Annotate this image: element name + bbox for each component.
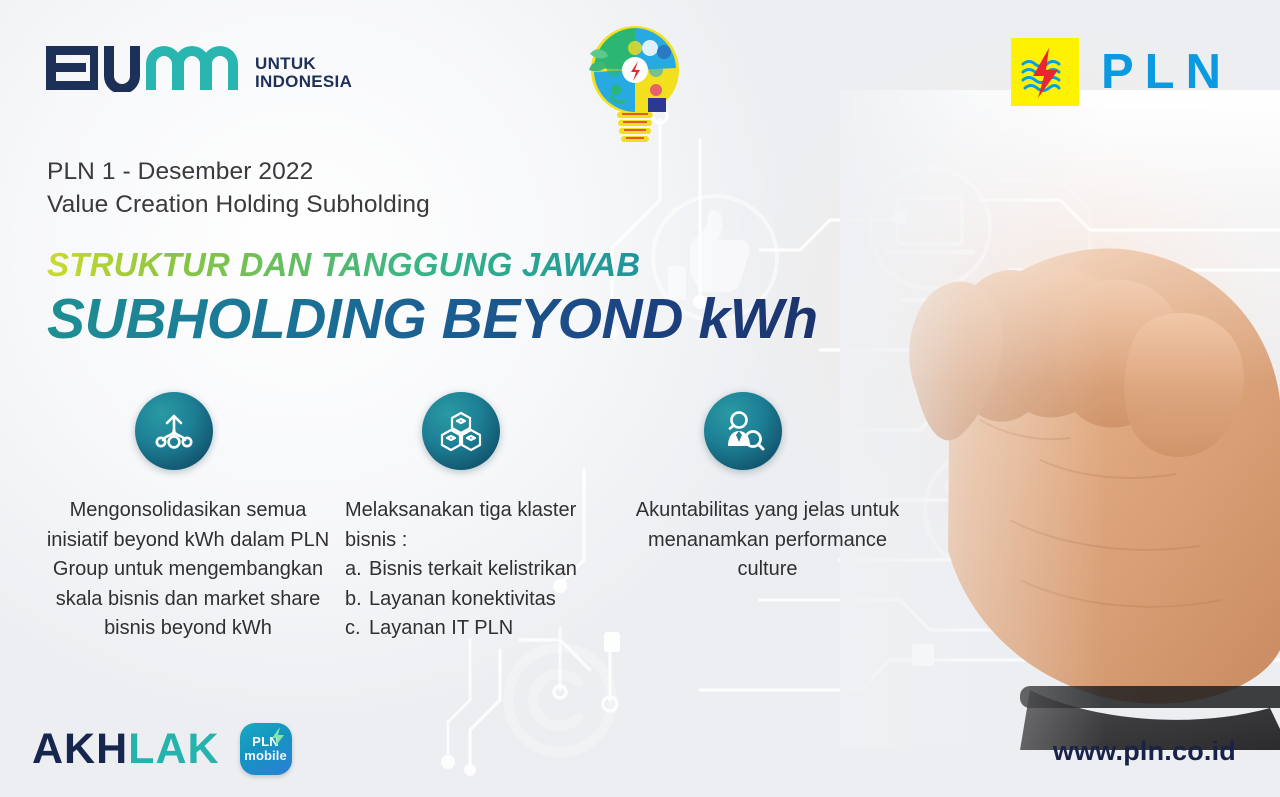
hand-illustration	[840, 90, 1280, 750]
list-label: Layanan konektivitas	[369, 585, 556, 615]
person-audit-search-icon	[704, 392, 782, 470]
pillar-2-intro-line1: Melaksanakan tiga klaster	[345, 496, 635, 526]
pln-wordmark: PLN	[1101, 48, 1232, 97]
list-label: Bisnis terkait kelistrikan	[369, 555, 577, 585]
cluster-list: a. Bisnis terkait kelistrikan b. Layanan…	[345, 555, 635, 644]
pillar-consolidation: Mengonsolidasikan semua inisiatif beyond…	[38, 392, 338, 644]
pillar-accountability: Akuntabilitas yang jelas untuk menanamka…	[630, 392, 905, 585]
pillar-1-text: Mengonsolidasikan semua inisiatif beyond…	[38, 496, 338, 644]
hand-photo	[840, 90, 1280, 750]
pln-mobile-line2: mobile	[244, 749, 287, 763]
pln-mobile-app-icon[interactable]: PLN mobile	[240, 723, 292, 775]
pln-logo: PLN	[1011, 38, 1232, 106]
bumn-tagline-line1: UNTUK	[255, 55, 352, 72]
akhlak-logo: AKHLAK PLN mobile	[32, 723, 292, 775]
bumn-wordmark-icon	[46, 44, 246, 92]
akhlak-wordmark: AKHLAK	[32, 728, 220, 771]
website-url[interactable]: www.pln.co.id	[1053, 736, 1236, 767]
person-magnifier-icon	[720, 408, 766, 454]
list-item: b. Layanan konektivitas	[345, 585, 635, 615]
consolidate-network-icon	[135, 392, 213, 470]
akhlak-part-2: LAK	[128, 725, 219, 773]
kicker-line-1: PLN 1 - Desember 2022	[47, 156, 430, 189]
pillar-clusters: Melaksanakan tiga klaster bisnis : a. Bi…	[345, 392, 635, 644]
list-marker: a.	[345, 555, 361, 585]
list-marker: c.	[345, 614, 361, 644]
lightning-bolt-icon	[271, 727, 285, 747]
three-cubes-icon	[438, 408, 484, 454]
list-marker: b.	[345, 585, 361, 615]
bumn-logo: UNTUK INDONESIA	[46, 44, 352, 92]
bumn-tagline: UNTUK INDONESIA	[255, 55, 352, 92]
pillar-2-intro-line2: bisnis :	[345, 526, 635, 556]
event-kicker: PLN 1 - Desember 2022 Value Creation Hol…	[47, 156, 430, 221]
pillar-2-text: Melaksanakan tiga klaster bisnis : a. Bi…	[345, 496, 635, 644]
pln-lightning-badge-icon	[1011, 38, 1079, 106]
kicker-line-2: Value Creation Holding Subholding	[47, 189, 430, 222]
transformation-bulb-icon	[586, 22, 684, 144]
poster-canvas: UNTUK INDONESIA	[0, 0, 1280, 797]
headline-eyebrow: STRUKTUR DAN TANGGUNG JAWAB	[47, 248, 907, 283]
akhlak-part-1: AKH	[32, 725, 128, 773]
list-label: Layanan IT PLN	[369, 614, 513, 644]
list-item: a. Bisnis terkait kelistrikan	[345, 555, 635, 585]
headline-block: STRUKTUR DAN TANGGUNG JAWAB SUBHOLDING B…	[47, 248, 907, 349]
cluster-cubes-icon	[422, 392, 500, 470]
list-item: c. Layanan IT PLN	[345, 614, 635, 644]
merge-arrow-icon	[151, 408, 197, 454]
pillar-3-text: Akuntabilitas yang jelas untuk menanamka…	[630, 496, 905, 585]
headline-title: SUBHOLDING BEYOND kWh	[47, 289, 907, 349]
bumn-tagline-line2: INDONESIA	[255, 73, 352, 90]
